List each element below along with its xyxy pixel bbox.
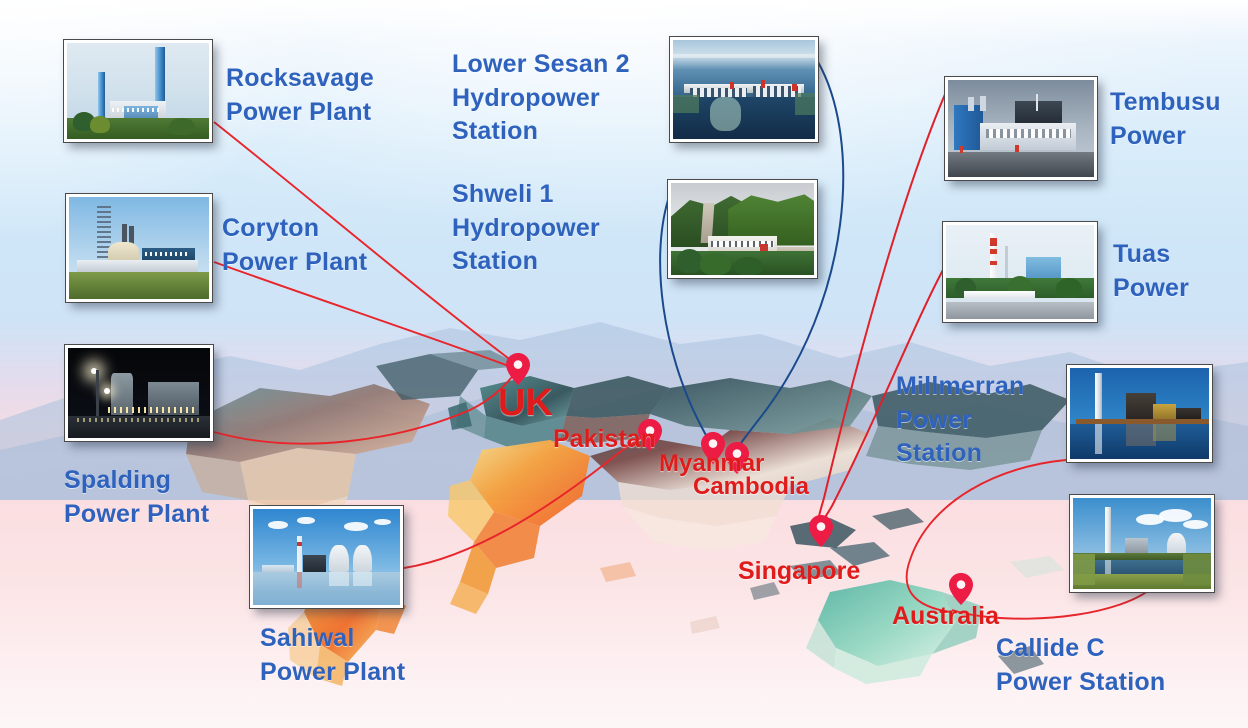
photo-tembusu-power[interactable] (945, 77, 1097, 180)
label-shweli-1-hydropower-station: Shweli 1 Hydropower Station (452, 178, 668, 279)
country-label-singapore: Singapore (738, 557, 860, 586)
label-tembusu-power: Tembusu Power (1110, 86, 1248, 153)
label-tuas-power: Tuas Power (1113, 238, 1248, 305)
photo-coryton-power-plant[interactable] (66, 194, 212, 302)
label-coryton-power-plant: Coryton Power Plant (222, 212, 432, 279)
photo-callide-c-power-station[interactable] (1070, 495, 1214, 592)
label-rocksavage-power-plant: Rocksavage Power Plant (226, 62, 436, 129)
label-millmerran-power-station: Millmerran Power Station (896, 370, 1076, 471)
map-pin-australia[interactable] (948, 572, 974, 606)
link-spalding (214, 372, 516, 444)
photo-lower-sesan-2-hydropower-station[interactable] (670, 37, 818, 142)
link-millmerran (907, 460, 1066, 612)
label-callide-c-power-station: Callide C Power Station (996, 632, 1246, 699)
label-spalding-power-plant: Spalding Power Plant (64, 464, 284, 531)
infographic-canvas: UK Pakistan Myanmar Cambodia Singapore A… (0, 0, 1248, 728)
photo-spalding-power-plant[interactable] (65, 345, 213, 441)
photo-shweli-1-hydropower-station[interactable] (668, 180, 817, 278)
map-pin-uk[interactable] (505, 352, 531, 386)
country-label-australia: Australia (892, 602, 999, 631)
photo-millmerran-power-station[interactable] (1067, 365, 1212, 462)
label-sahiwal-power-plant: Sahiwal Power Plant (260, 622, 490, 689)
photo-rocksavage-power-plant[interactable] (64, 40, 212, 142)
country-label-cambodia: Cambodia (693, 473, 809, 501)
link-sahiwal (404, 434, 650, 568)
country-label-uk: UK (498, 382, 553, 425)
map-pin-singapore[interactable] (808, 514, 834, 548)
photo-tuas-power[interactable] (943, 222, 1097, 322)
label-lower-sesan-2-hydropower-station: Lower Sesan 2 Hydropower Station (452, 48, 668, 149)
country-label-pakistan: Pakistan (553, 425, 656, 454)
